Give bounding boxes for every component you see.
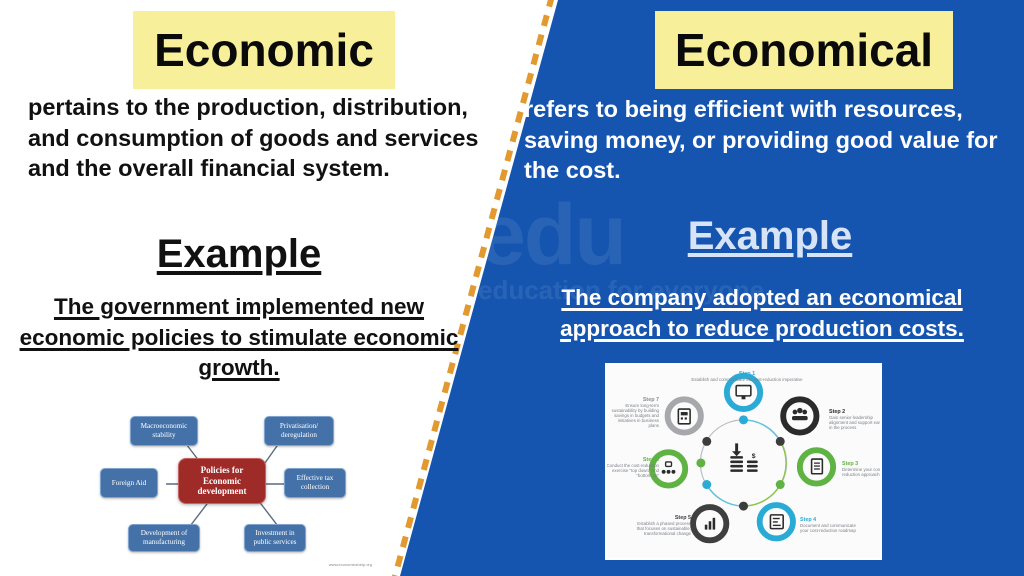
svg-text:$: $ (752, 453, 756, 460)
right-example-heading: Example (560, 214, 980, 259)
step-1-label: Step 1 Establish and communicate the cos… (689, 371, 805, 383)
right-title-economical: Economical (655, 11, 953, 89)
step-2-label: Step 2 Gain senior leadership alignment … (829, 409, 882, 431)
right-example-sentence: The company adopted an economical approa… (512, 283, 1012, 344)
left-example-sentence: The government implemented new economic … (10, 292, 468, 384)
step-4-label: Step 4 Document and communicate your cos… (800, 517, 856, 534)
left-example-heading: Example (0, 232, 478, 277)
left-diagram-policies-mindmap: Macroeconomic stability Privatisation/ d… (88, 396, 378, 568)
step-3-label: Step 3 Determine your cost-reduction app… (842, 461, 882, 478)
mindmap-node-0: Macroeconomic stability (130, 416, 198, 446)
right-diagram-cost-reduction-cycle: $ (605, 363, 882, 560)
coins-savings-arrow-icon: $ (730, 443, 757, 472)
step-5-label: Step 5 Establish a phased process that f… (633, 515, 691, 537)
mindmap-node-3: Effective tax collection (284, 468, 346, 498)
right-definition-text: refers to being efficient with resources… (524, 94, 1024, 186)
left-definition-text: pertains to the production, distribution… (28, 92, 488, 184)
mindmap-core-node: Policies for Economic development (178, 458, 266, 504)
step-7-label: Step 7 Ensure long-term sustainability b… (609, 397, 659, 429)
mindmap-node-5: Investment in public services (244, 524, 306, 552)
mindmap-node-2: Foreign Aid (100, 468, 158, 498)
slide-canvas: edu education for everyone Economic pert… (0, 0, 1024, 576)
left-title-economic: Economic (133, 11, 395, 89)
mindmap-node-4: Development of manufacturing (128, 524, 200, 552)
mindmap-credit-text: www.economicshelp.org (329, 562, 372, 567)
step-6-label: Step 6 Conduct the cost-reduction exerci… (605, 457, 659, 479)
mindmap-node-1: Privatisation/ deregulation (264, 416, 334, 446)
